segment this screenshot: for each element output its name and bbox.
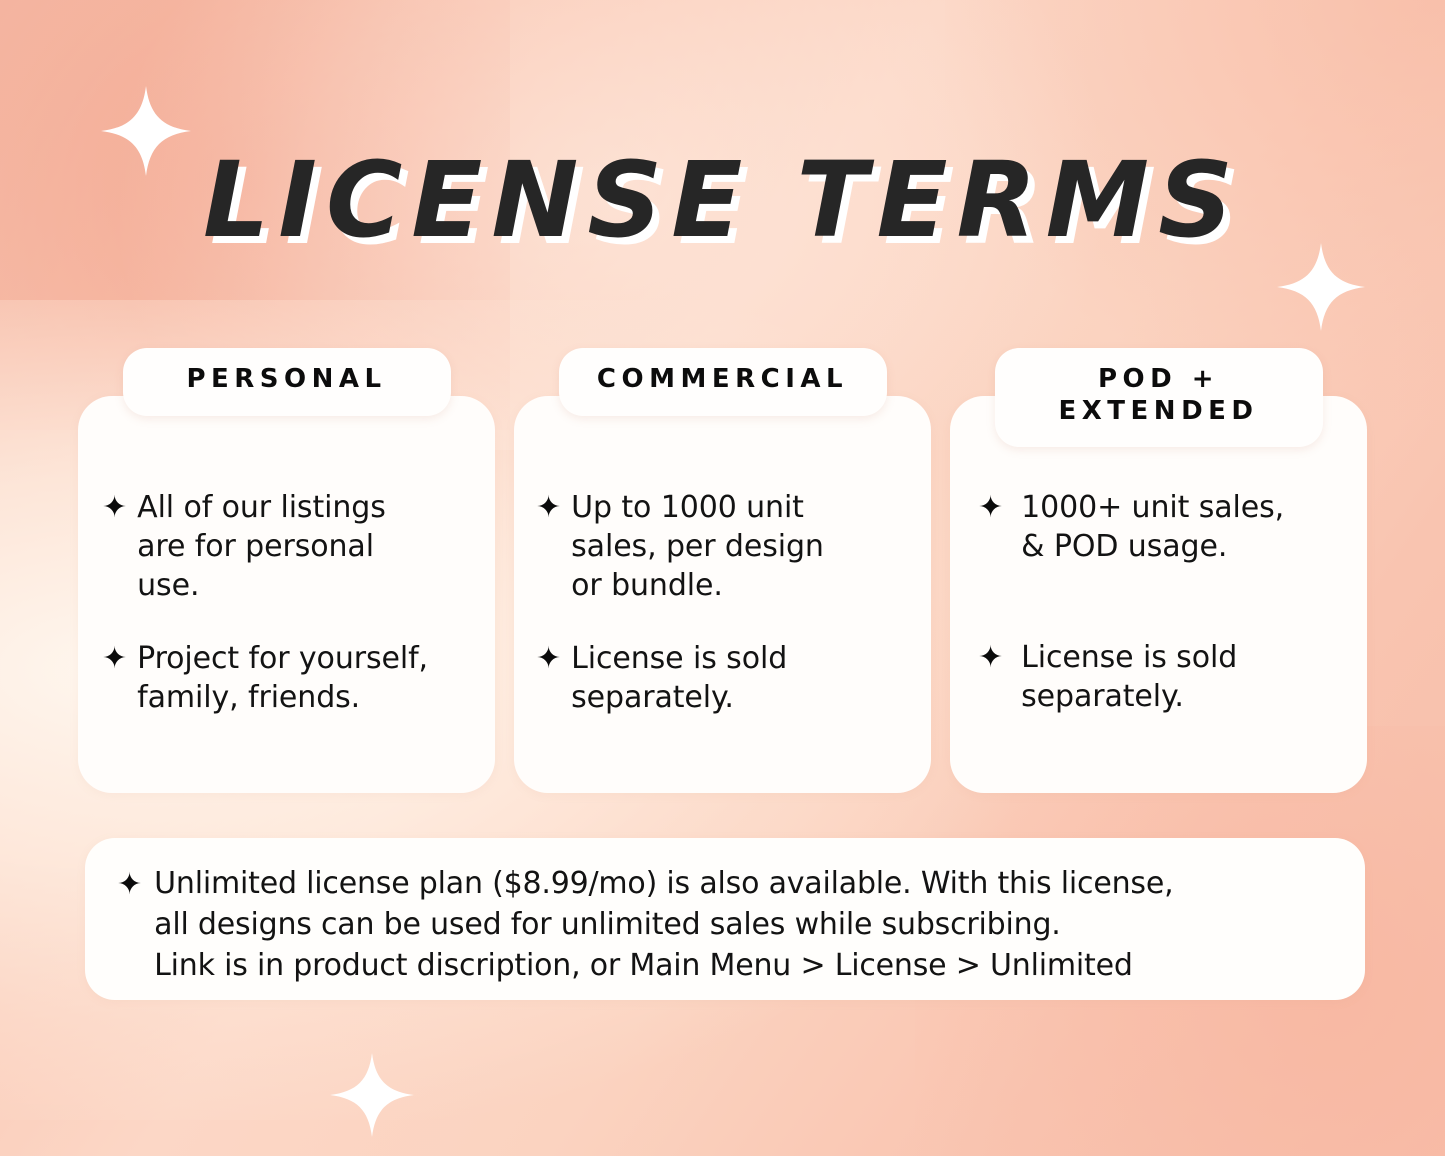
list-item: ✦ All of our listings are for personal u… [102, 488, 483, 605]
plan-card-title: PERSONAL [149, 364, 425, 396]
plan-card-pod-extended[interactable]: POD + EXTENDED ✦ 1000+ unit sales, & POD… [950, 348, 1367, 793]
star-bullet-icon: ✦ [536, 489, 561, 527]
list-item: ✦ 1000+ unit sales, & POD usage. [978, 488, 1355, 566]
plan-card-commercial[interactable]: COMMERCIAL ✦ Up to 1000 unit sales, per … [514, 348, 931, 793]
list-item-label: License is sold separately. [1021, 638, 1237, 716]
star-bullet-icon: ✦ [536, 640, 561, 678]
plan-feature-list: ✦ 1000+ unit sales, & POD usage. ✦ Licen… [950, 488, 1367, 716]
plan-feature-list: ✦ Up to 1000 unit sales, per design or b… [514, 488, 931, 717]
license-terms-graphic: LICENSE TERMS PERSONAL ✦ All of our list… [0, 0, 1445, 1156]
list-item: ✦ License is sold separately. [978, 638, 1355, 716]
plan-card-title: COMMERCIAL [585, 364, 861, 396]
list-item: ✦ Project for yourself, family, friends. [102, 639, 483, 717]
star-bullet-icon: ✦ [117, 866, 142, 904]
list-item: ✦ Up to 1000 unit sales, per design or b… [536, 488, 921, 605]
list-item: ✦ License is sold separately. [536, 639, 921, 717]
plan-card-tab-commercial[interactable]: COMMERCIAL [559, 348, 887, 416]
unlimited-plan-banner-inner: ✦ Unlimited license plan ($8.99/mo) is a… [85, 838, 1365, 986]
list-item-label: All of our listings are for personal use… [137, 488, 386, 605]
star-bullet-icon: ✦ [102, 489, 127, 527]
unlimited-plan-note: Unlimited license plan ($8.99/mo) is als… [154, 864, 1173, 986]
list-item-label: 1000+ unit sales, & POD usage. [1021, 488, 1284, 566]
list-item-label: Project for yourself, family, friends. [137, 639, 428, 717]
star-bullet-icon: ✦ [978, 639, 1003, 677]
list-item-label: Up to 1000 unit sales, per design or bun… [571, 488, 824, 605]
list-item-label: License is sold separately. [571, 639, 787, 717]
star-bullet-icon: ✦ [102, 640, 127, 678]
plan-card-personal[interactable]: PERSONAL ✦ All of our listings are for p… [78, 348, 495, 793]
star-bullet-icon: ✦ [978, 489, 1003, 527]
plan-card-tab-personal[interactable]: PERSONAL [123, 348, 451, 416]
unlimited-plan-banner: ✦ Unlimited license plan ($8.99/mo) is a… [85, 838, 1365, 1000]
plan-feature-list: ✦ All of our listings are for personal u… [78, 488, 495, 717]
plan-card-title: POD + EXTENDED [1021, 364, 1297, 427]
page-title: LICENSE TERMS [0, 148, 1445, 252]
plan-card-tab-pod-extended[interactable]: POD + EXTENDED [995, 348, 1323, 447]
plan-cards-row: PERSONAL ✦ All of our listings are for p… [78, 348, 1367, 793]
